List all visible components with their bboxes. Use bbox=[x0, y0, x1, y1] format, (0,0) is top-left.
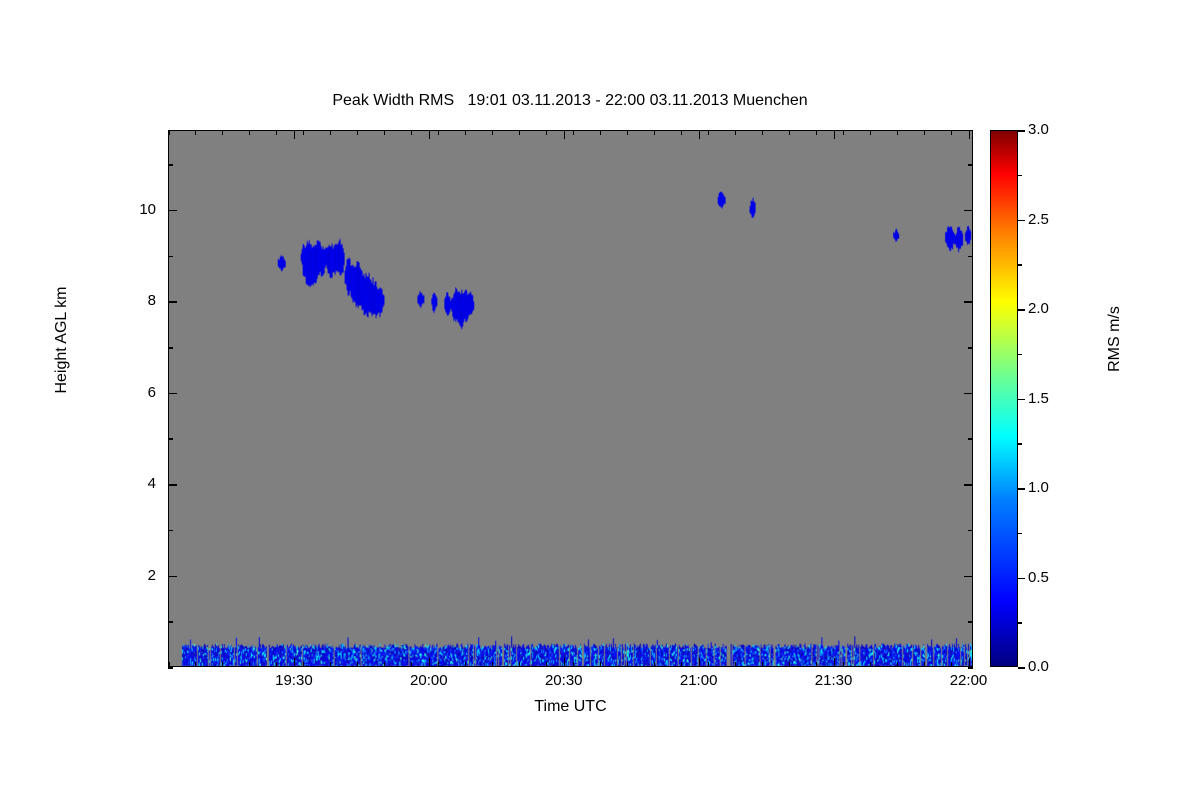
y-minor-tick-right bbox=[968, 164, 973, 166]
y-minor-tick-right bbox=[968, 667, 973, 669]
x-minor-tick bbox=[951, 662, 953, 667]
x-minor-tick bbox=[465, 662, 467, 667]
x-minor-tick-top bbox=[681, 130, 683, 135]
x-tick-label: 21:30 bbox=[794, 672, 874, 689]
x-minor-tick bbox=[357, 662, 359, 667]
x-minor-tick-top bbox=[195, 130, 197, 135]
x-minor-tick bbox=[249, 662, 251, 667]
x-minor-tick-top bbox=[627, 130, 629, 135]
x-minor-tick bbox=[438, 662, 440, 667]
x-major-tick-top bbox=[834, 130, 836, 139]
colorbar-tick-label: 1.0 bbox=[1028, 479, 1049, 496]
x-minor-tick bbox=[195, 662, 197, 667]
x-minor-tick bbox=[843, 662, 845, 667]
x-minor-tick-top bbox=[600, 130, 602, 135]
y-major-tick-right bbox=[964, 301, 973, 303]
colorbar-tick bbox=[1018, 578, 1025, 580]
y-tick-label: 10 bbox=[108, 201, 156, 218]
x-minor-tick bbox=[303, 662, 305, 667]
x-minor-tick-top bbox=[870, 130, 872, 135]
x-minor-tick-top bbox=[735, 130, 737, 135]
x-minor-tick bbox=[492, 662, 494, 667]
x-minor-tick bbox=[276, 662, 278, 667]
x-minor-tick-top bbox=[789, 130, 791, 135]
colorbar-tick-label: 3.0 bbox=[1028, 121, 1049, 138]
x-minor-tick-top bbox=[654, 130, 656, 135]
x-tick-label: 22:00 bbox=[929, 672, 1009, 689]
x-minor-tick bbox=[573, 662, 575, 667]
y-major-tick-right bbox=[964, 210, 973, 212]
y-major-tick-right bbox=[964, 393, 973, 395]
page-title: Peak Width RMS 19:01 03.11.2013 - 22:00 … bbox=[0, 92, 1140, 110]
x-minor-tick-top bbox=[573, 130, 575, 135]
colorbar-label: RMS m/s bbox=[1106, 219, 1124, 459]
heatmap-data-layer bbox=[169, 131, 972, 666]
colorbar-minor-tick bbox=[1018, 443, 1022, 445]
x-minor-tick bbox=[897, 662, 899, 667]
x-major-tick bbox=[834, 658, 836, 667]
y-minor-tick-right bbox=[968, 621, 973, 623]
colorbar-tick-label: 2.0 bbox=[1028, 300, 1049, 317]
x-major-tick-top bbox=[969, 130, 971, 139]
x-minor-tick-top bbox=[843, 130, 845, 135]
colorbar-minor-tick bbox=[1018, 264, 1022, 266]
x-tick-label: 20:00 bbox=[389, 672, 469, 689]
x-major-tick-top bbox=[699, 130, 701, 139]
x-minor-tick-top bbox=[249, 130, 251, 135]
colorbar-tick bbox=[1018, 220, 1025, 222]
y-tick-label: 8 bbox=[108, 292, 156, 309]
y-minor-tick bbox=[168, 347, 173, 349]
x-minor-tick bbox=[411, 662, 413, 667]
x-minor-tick bbox=[735, 662, 737, 667]
x-minor-tick-top bbox=[816, 130, 818, 135]
y-major-tick-right bbox=[964, 576, 973, 578]
y-tick-label: 4 bbox=[108, 475, 156, 492]
y-minor-tick-right bbox=[968, 256, 973, 258]
plot-area[interactable] bbox=[168, 130, 973, 667]
x-minor-tick bbox=[600, 662, 602, 667]
x-minor-tick-top bbox=[708, 130, 710, 135]
colorbar-tick-label: 1.5 bbox=[1028, 390, 1049, 407]
x-major-tick bbox=[969, 658, 971, 667]
colorbar-tick bbox=[1018, 488, 1025, 490]
y-minor-tick bbox=[168, 530, 173, 532]
y-axis-label: Height AGL km bbox=[53, 210, 71, 470]
x-tick-label: 21:00 bbox=[659, 672, 739, 689]
colorbar-tick bbox=[1018, 667, 1025, 669]
x-minor-tick-top bbox=[276, 130, 278, 135]
x-major-tick bbox=[429, 658, 431, 667]
y-tick-label: 2 bbox=[108, 567, 156, 584]
y-minor-tick bbox=[168, 164, 173, 166]
colorbar-tick bbox=[1018, 130, 1025, 132]
x-minor-tick-top bbox=[222, 130, 224, 135]
x-minor-tick-top bbox=[357, 130, 359, 135]
x-minor-tick-top bbox=[411, 130, 413, 135]
x-minor-tick-top bbox=[492, 130, 494, 135]
x-minor-tick bbox=[519, 662, 521, 667]
y-major-tick bbox=[168, 301, 177, 303]
y-minor-tick-right bbox=[968, 530, 973, 532]
x-minor-tick-top bbox=[546, 130, 548, 135]
y-minor-tick-right bbox=[968, 438, 973, 440]
x-minor-tick-top bbox=[438, 130, 440, 135]
x-minor-tick bbox=[789, 662, 791, 667]
x-tick-label: 19:30 bbox=[254, 672, 334, 689]
colorbar-minor-tick bbox=[1018, 175, 1022, 177]
x-minor-tick-top bbox=[951, 130, 953, 135]
x-major-tick bbox=[564, 658, 566, 667]
x-minor-tick-top bbox=[762, 130, 764, 135]
x-major-tick-top bbox=[429, 130, 431, 139]
x-major-tick bbox=[699, 658, 701, 667]
x-minor-tick-top bbox=[330, 130, 332, 135]
x-minor-tick bbox=[654, 662, 656, 667]
x-minor-tick-top bbox=[897, 130, 899, 135]
x-minor-tick bbox=[708, 662, 710, 667]
x-minor-tick bbox=[870, 662, 872, 667]
x-minor-tick bbox=[330, 662, 332, 667]
x-major-tick bbox=[294, 658, 296, 667]
colorbar-tick-label: 0.0 bbox=[1028, 658, 1049, 675]
y-major-tick bbox=[168, 210, 177, 212]
y-major-tick-right bbox=[964, 484, 973, 486]
y-major-tick bbox=[168, 484, 177, 486]
colorbar-minor-tick bbox=[1018, 622, 1022, 624]
colorbar-tick-label: 2.5 bbox=[1028, 211, 1049, 228]
x-tick-label: 20:30 bbox=[524, 672, 604, 689]
y-minor-tick bbox=[168, 438, 173, 440]
x-minor-tick-top bbox=[303, 130, 305, 135]
colorbar-minor-tick bbox=[1018, 533, 1022, 535]
x-minor-tick bbox=[681, 662, 683, 667]
x-major-tick-top bbox=[294, 130, 296, 139]
x-minor-tick-top bbox=[384, 130, 386, 135]
y-major-tick bbox=[168, 576, 177, 578]
x-minor-tick bbox=[546, 662, 548, 667]
colorbar-tick bbox=[1018, 309, 1025, 311]
x-major-tick-top bbox=[564, 130, 566, 139]
colorbar-tick-label: 0.5 bbox=[1028, 569, 1049, 586]
x-minor-tick bbox=[816, 662, 818, 667]
y-tick-label: 6 bbox=[108, 384, 156, 401]
colorbar-minor-tick bbox=[1018, 354, 1022, 356]
x-minor-tick bbox=[627, 662, 629, 667]
colorbar-tick bbox=[1018, 399, 1025, 401]
y-minor-tick-right bbox=[968, 347, 973, 349]
x-minor-tick bbox=[762, 662, 764, 667]
colorbar[interactable] bbox=[990, 130, 1018, 667]
x-axis-label: Time UTC bbox=[168, 698, 973, 716]
x-minor-tick-top bbox=[924, 130, 926, 135]
y-major-tick bbox=[168, 393, 177, 395]
x-minor-tick-top bbox=[465, 130, 467, 135]
y-minor-tick bbox=[168, 621, 173, 623]
y-minor-tick bbox=[168, 256, 173, 258]
y-minor-tick bbox=[168, 667, 173, 669]
x-minor-tick bbox=[222, 662, 224, 667]
x-minor-tick-top bbox=[168, 130, 170, 135]
x-minor-tick-top bbox=[519, 130, 521, 135]
figure-canvas: Peak Width RMS 19:01 03.11.2013 - 22:00 … bbox=[0, 0, 1200, 800]
x-minor-tick bbox=[384, 662, 386, 667]
x-minor-tick bbox=[924, 662, 926, 667]
